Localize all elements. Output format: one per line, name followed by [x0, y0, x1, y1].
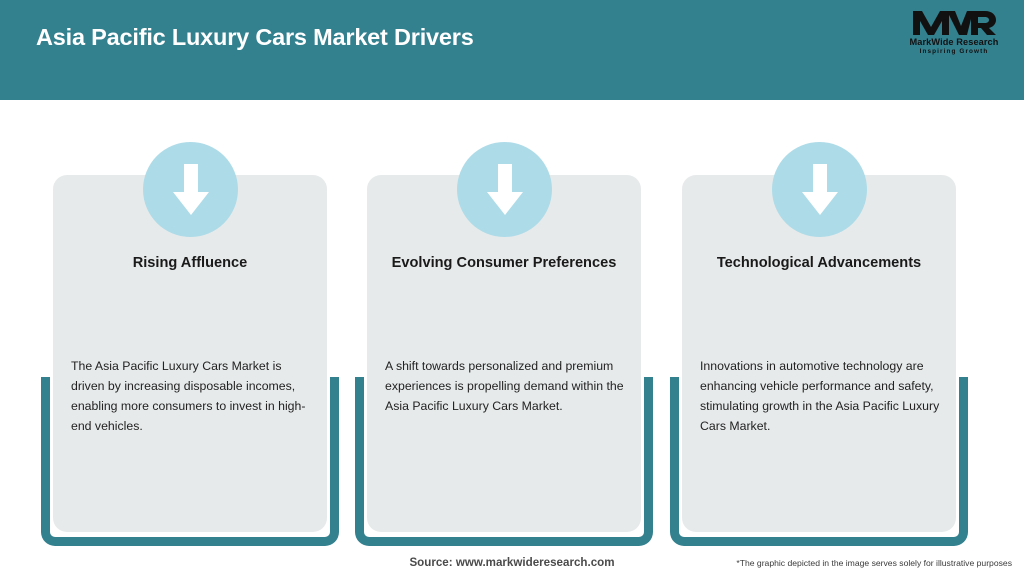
- driver-card-group: Rising Affluence The Asia Pacific Luxury…: [41, 142, 339, 546]
- header-bar: Asia Pacific Luxury Cars Market Drivers …: [0, 0, 1024, 100]
- driver-card-group: Technological Advancements Innovations i…: [670, 142, 968, 546]
- card-body-text: A shift towards personalized and premium…: [385, 357, 625, 417]
- card-body-text: Innovations in automotive technology are…: [700, 357, 940, 437]
- brand-logo: MarkWide Research Inspiring Growth: [902, 9, 1006, 59]
- mwr-monogram-icon: [902, 9, 1006, 36]
- driver-card-group: Evolving Consumer Preferences A shift to…: [355, 142, 653, 546]
- arrow-down-icon: [772, 142, 867, 237]
- arrow-down-icon: [457, 142, 552, 237]
- disclaimer-note: *The graphic depicted in the image serve…: [736, 558, 1012, 568]
- card-title: Evolving Consumer Preferences: [381, 253, 627, 274]
- page-title: Asia Pacific Luxury Cars Market Drivers: [36, 24, 474, 51]
- card-body-text: The Asia Pacific Luxury Cars Market is d…: [71, 357, 311, 437]
- infographic-slide: Asia Pacific Luxury Cars Market Drivers …: [0, 0, 1024, 576]
- card-title: Rising Affluence: [67, 253, 313, 274]
- logo-tagline: Inspiring Growth: [902, 48, 1006, 55]
- arrow-down-icon: [143, 142, 238, 237]
- card-title: Technological Advancements: [696, 253, 942, 274]
- logo-company-name: MarkWide Research: [902, 37, 1006, 47]
